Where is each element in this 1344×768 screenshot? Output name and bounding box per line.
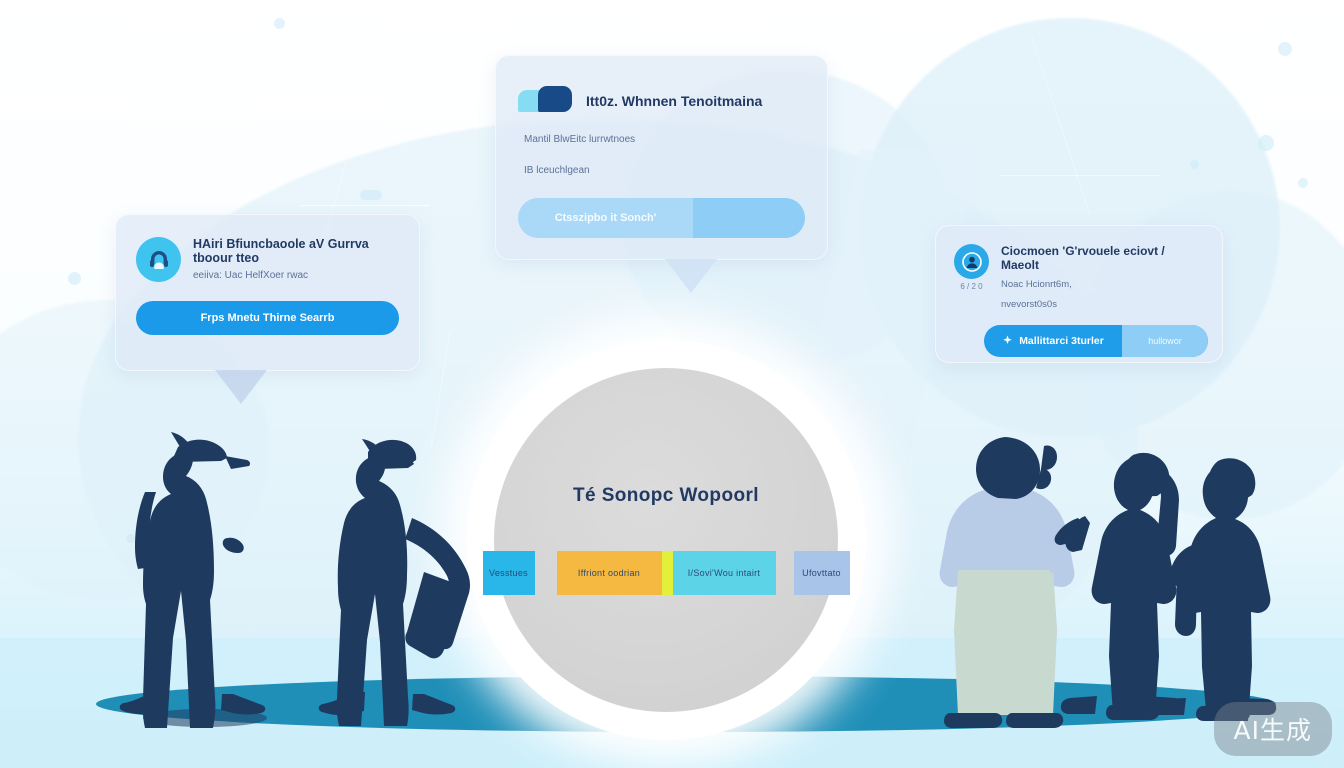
background-speck (1190, 160, 1199, 169)
card-header: HAiri Bfiuncbaoole aV Gurrva tboour tteo… (116, 215, 419, 283)
card-button-aside[interactable]: hullowor (1122, 325, 1208, 357)
hub-title: Té Sonopc Wopoorl (573, 485, 759, 507)
headset-agent-icon (136, 237, 181, 282)
speech-bubble-dark-icon (538, 86, 572, 112)
hub-chip[interactable]: Iffriont oodrian (557, 551, 662, 595)
card-primary-button[interactable]: Mallittarci 3turler hullowor (984, 325, 1208, 357)
hub-chip[interactable]: I/Sovi'Wou intairt (673, 551, 776, 595)
background-speck (274, 18, 285, 29)
background-speck (1258, 135, 1274, 151)
background-speck (126, 534, 135, 543)
card-title: Itt0z. Whnnen Tenoitmaina (586, 93, 762, 109)
sparkle-icon (1002, 335, 1013, 346)
scene-root: Té Sonopc Wopoorl Vesstues Iffriont oodr… (0, 0, 1344, 768)
user-circle-icon (954, 244, 989, 279)
hub-chip[interactable] (662, 551, 673, 595)
dual-speech-bubble-icon (518, 86, 574, 116)
card-title: Ciocmoen 'G'rvouele eciovt / Maeolt (1001, 244, 1206, 272)
background-speck (68, 272, 81, 285)
card-primary-button-label: Frps Mnetu Thirne Searrb (136, 301, 399, 335)
background-hairline (300, 205, 430, 206)
chat-card-top-tail (665, 259, 717, 293)
background-hairline (1000, 175, 1160, 176)
chat-card-right[interactable]: 6 / 2 0 Ciocmoen 'G'rvouele eciovt / Mae… (935, 225, 1223, 363)
card-primary-button[interactable]: Ctsszipbo it Sonch' (518, 198, 805, 238)
card-primary-button-label: Mallittarci 3turler (984, 325, 1122, 357)
background-speck (360, 190, 382, 200)
card-subtitle-line-1: Mantil BlwEitc lurrwtnoes (524, 132, 827, 147)
hub-circle: Té Sonopc Wopoorl Vesstues Iffriont oodr… (494, 368, 838, 712)
card-primary-button[interactable]: Frps Mnetu Thirne Searrb (136, 301, 399, 335)
avatar-block: 6 / 2 0 (954, 244, 989, 291)
card-subtitle-line-2: nvevorst0s0s (1001, 298, 1206, 312)
hub-chip-row: Vesstues Iffriont oodrian I/Sovi'Wou int… (483, 551, 850, 595)
chat-card-left[interactable]: HAiri Bfiuncbaoole aV Gurrva tboour tteo… (115, 214, 420, 371)
chat-card-left-tail (215, 370, 267, 404)
avatar-caption: 6 / 2 0 (954, 282, 989, 291)
card-primary-button-label: Ctsszipbo it Sonch' (518, 198, 693, 238)
hub-chip[interactable]: Vesstues (483, 551, 535, 595)
card-primary-button-text: Mallittarci 3turler (1019, 335, 1104, 347)
hub-chip[interactable]: Ufovttato (794, 551, 850, 595)
ai-generated-watermark: AI生成 (1214, 702, 1332, 756)
card-button-aside[interactable] (693, 198, 805, 238)
card-subtitle-line-2: IB lceuchlgean (524, 163, 827, 178)
card-header: Itt0z. Whnnen Tenoitmaina (496, 56, 827, 116)
card-text-block: Ciocmoen 'G'rvouele eciovt / Maeolt Noac… (1001, 244, 1206, 313)
background-speck (1298, 178, 1308, 188)
card-text-block: HAiri Bfiuncbaoole aV Gurrva tboour tteo… (193, 237, 401, 283)
card-header: 6 / 2 0 Ciocmoen 'G'rvouele eciovt / Mae… (936, 226, 1222, 313)
card-title: HAiri Bfiuncbaoole aV Gurrva tboour tteo (193, 237, 401, 265)
card-subtitle: eeiiva: Uac HelfXoer rwac (193, 268, 401, 283)
card-subtitle-line-1: Noac Hcionrt6m, (1001, 278, 1206, 292)
background-speck (1278, 42, 1292, 56)
chat-card-top[interactable]: Itt0z. Whnnen Tenoitmaina Mantil BlwEitc… (495, 55, 828, 260)
